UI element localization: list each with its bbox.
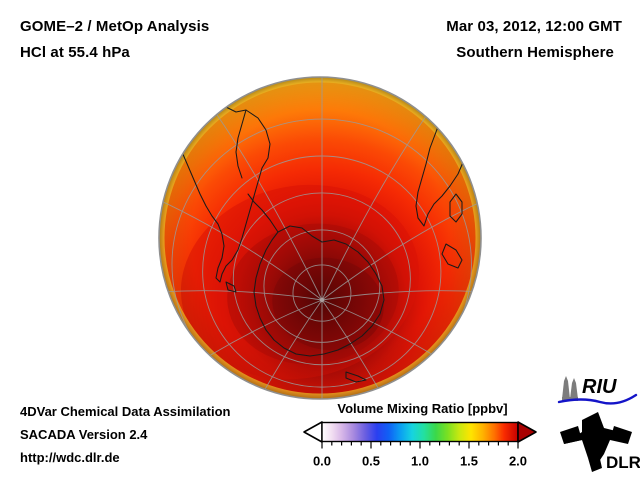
colorbar-over-arrow (518, 422, 536, 442)
colorbar: Volume Mixing Ratio [ppbv] 0.00.51.01.52… (300, 401, 545, 471)
colorbar-tick-label: 0.5 (362, 454, 380, 469)
header-right: Mar 03, 2012, 12:00 GMT Southern Hemisph… (322, 14, 622, 66)
south-pole-marker (320, 298, 324, 302)
page-title: GOME–2 / MetOp Analysis (20, 14, 350, 40)
cathedral-spires-icon (562, 376, 578, 401)
colorbar-tick-label: 1.5 (460, 454, 478, 469)
credit-method: 4DVar Chemical Data Assimilation (20, 400, 320, 423)
credits-block: 4DVar Chemical Data Assimilation SACADA … (20, 400, 320, 469)
riu-logo-text: RIU (582, 376, 617, 398)
region-label: Southern Hemisphere (322, 40, 622, 66)
colorbar-tick-labels: 0.00.51.01.52.0 (313, 454, 527, 469)
page-subtitle: HCl at 55.4 hPa (20, 40, 350, 66)
riu-logo: RIU (556, 373, 638, 407)
colorbar-title: Volume Mixing Ratio [ppbv] (300, 401, 545, 417)
credit-url[interactable]: http://wdc.dlr.de (20, 446, 320, 469)
colorbar-ticks (322, 442, 518, 449)
colorbar-under-arrow (304, 422, 322, 442)
colorbar-tick-label: 2.0 (509, 454, 527, 469)
dlr-logo-svg: DLR (558, 410, 638, 474)
colorbar-svg: 0.00.51.01.52.0 (300, 419, 545, 471)
timestamp-label: Mar 03, 2012, 12:00 GMT (322, 14, 622, 40)
credit-version: SACADA Version 2.4 (20, 423, 320, 446)
header-left: GOME–2 / MetOp Analysis HCl at 55.4 hPa (20, 14, 350, 66)
globe-map (150, 68, 490, 408)
globe-svg (150, 68, 490, 408)
dlr-logo: DLR (558, 410, 638, 474)
colorbar-tick-label: 0.0 (313, 454, 331, 469)
dlr-logo-text: DLR (606, 453, 640, 472)
colorbar-gradient-bar (322, 423, 518, 442)
colorbar-tick-label: 1.0 (411, 454, 429, 469)
riu-logo-svg: RIU (556, 373, 638, 407)
